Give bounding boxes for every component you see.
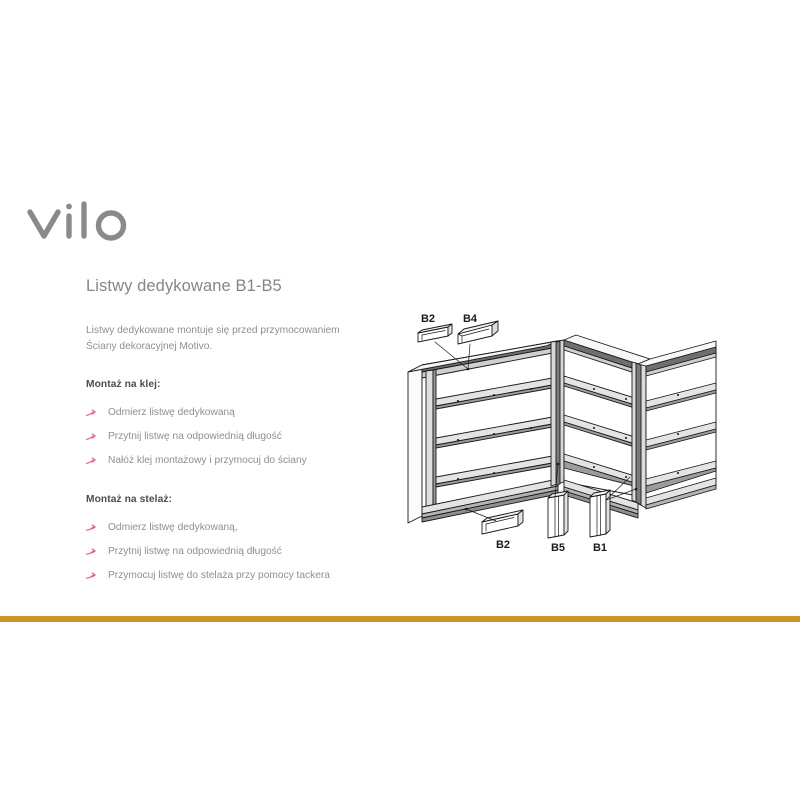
- steps-list-frame: Odmierz listwę dedykowaną, Przytnij list…: [86, 521, 386, 583]
- vilo-logo: [24, 198, 144, 250]
- list-item: Odmierz listwę dedykowaną: [86, 406, 386, 421]
- list-item: Przytnij listwę na odpowiednią długość: [86, 430, 386, 445]
- list-item: Przytnij listwę na odpowiednią długość: [86, 545, 386, 560]
- step-label: Przymocuj listwę do stelaża przy pomocy …: [108, 570, 330, 581]
- callout-label-b1-bottom: B1: [593, 542, 607, 554]
- intro-paragraph: Listwy dedykowane montuje się przed przy…: [86, 323, 346, 355]
- list-item: Przymocuj listwę do stelaża przy pomocy …: [86, 569, 386, 584]
- step-label: Nałóż klej montażowy i przymocuj do ścia…: [108, 455, 307, 466]
- page-canvas: Listwy dedykowane B1-B5 Listwy dedykowan…: [0, 0, 800, 800]
- callout-label-b4-top: B4: [463, 313, 478, 325]
- arrow-bullet-icon: [86, 524, 99, 533]
- step-label: Przytnij listwę na odpowiednią długość: [108, 431, 282, 442]
- section-heading-frame: Montaż na stelaż:: [86, 494, 386, 505]
- callout-label-b5-bottom: B5: [551, 542, 565, 554]
- section-heading-glue: Montaż na klej:: [86, 379, 386, 390]
- arrow-bullet-icon: [86, 457, 99, 466]
- step-label: Odmierz listwę dedykowaną: [108, 407, 235, 418]
- arrow-bullet-icon: [86, 572, 99, 581]
- callout-label-b2-top: B2: [421, 313, 435, 325]
- step-label: Odmierz listwę dedykowaną,: [108, 522, 238, 533]
- arrow-bullet-icon: [86, 433, 99, 442]
- page-title: Listwy dedykowane B1-B5: [86, 276, 386, 297]
- list-item: Nałóż klej montażowy i przymocuj do ścia…: [86, 454, 386, 469]
- step-label: Przytnij listwę na odpowiednią długość: [108, 546, 282, 557]
- assembly-diagram: B2 B4 B2 B5 B1: [386, 300, 796, 570]
- steps-list-glue: Odmierz listwę dedykowaną Przytnij listw…: [86, 406, 386, 468]
- list-item: Odmierz listwę dedykowaną,: [86, 521, 386, 536]
- arrow-bullet-icon: [86, 409, 99, 418]
- arrow-bullet-icon: [86, 548, 99, 557]
- gold-divider-rule: [0, 616, 800, 622]
- callout-label-b2-bottom: B2: [496, 539, 510, 551]
- content-column: Listwy dedykowane B1-B5 Listwy dedykowan…: [86, 276, 386, 610]
